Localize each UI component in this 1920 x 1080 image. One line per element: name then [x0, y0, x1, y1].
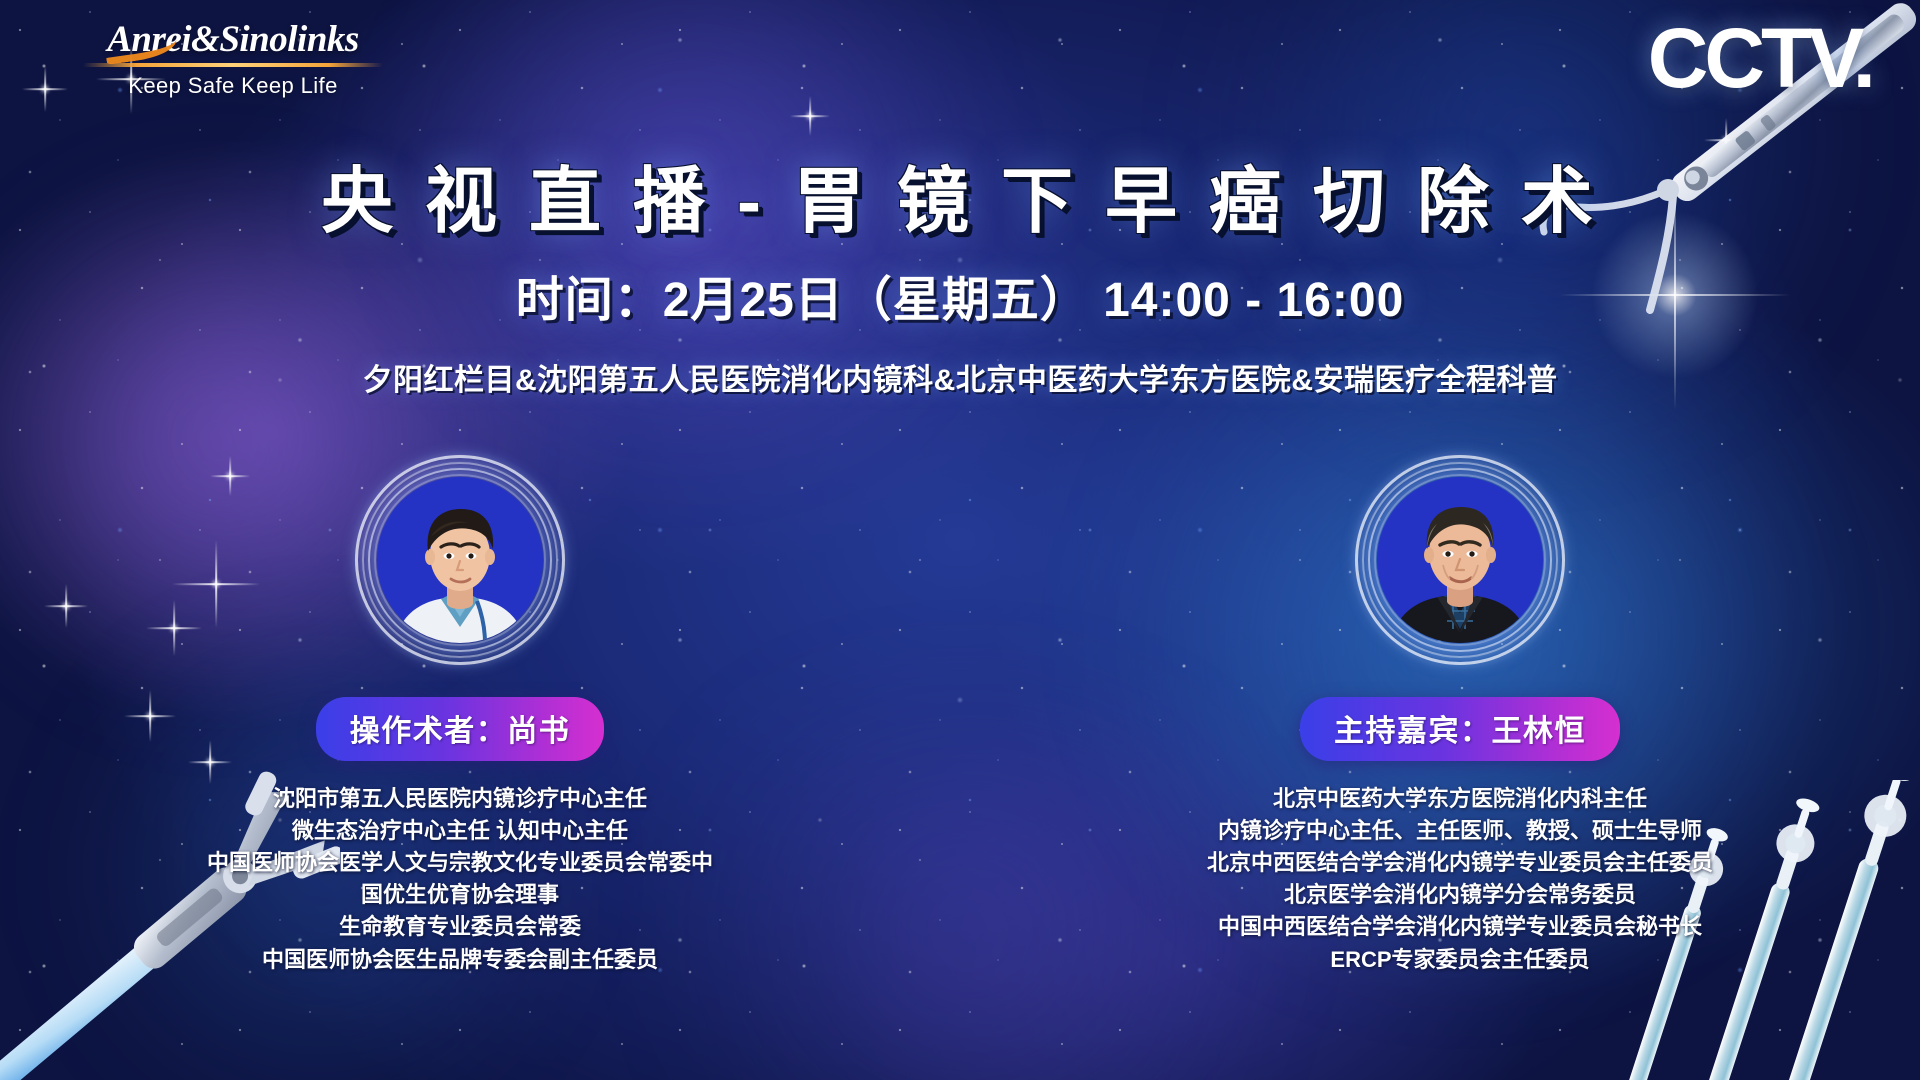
- credential-item: 中国医师协会医生品牌专委会副主任委员: [207, 944, 713, 976]
- presenters-section: 操作术者：尚书 沈阳市第五人民医院内镜诊疗中心主任 微生态治疗中心主任 认知中心…: [0, 455, 1920, 976]
- credential-item: 沈阳市第五人民医院内镜诊疗中心主任: [207, 783, 713, 815]
- brand-logo: Anrei&Sinolinks Keep Safe Keep Life: [78, 18, 388, 99]
- credential-item: 中国中西医结合学会消化内镜学专业委员会秘书长: [1207, 911, 1713, 943]
- presenter-card: 主持嘉宾：王林恒 北京中医药大学东方医院消化内科主任 内镜诊疗中心主任、主任医师…: [1180, 455, 1740, 976]
- credential-item: 国优生优育协会理事: [207, 879, 713, 911]
- broadcast-datetime: 时间：2月25日（星期五） 14:00 - 16:00: [0, 260, 1920, 330]
- credential-item: 生命教育专业委员会常委: [207, 911, 713, 943]
- avatar: [355, 455, 565, 665]
- brand-tagline: Keep Safe Keep Life: [78, 73, 388, 99]
- star-sparkle: [790, 96, 830, 136]
- credential-item: ERCP专家委员会主任委员: [1207, 944, 1713, 976]
- credential-item: 北京医学会消化内镜学分会常务委员: [1207, 879, 1713, 911]
- presenter-card: 操作术者：尚书 沈阳市第五人民医院内镜诊疗中心主任 微生态治疗中心主任 认知中心…: [180, 455, 740, 976]
- presenter-credentials: 沈阳市第五人民医院内镜诊疗中心主任 微生态治疗中心主任 认知中心主任 中国医师协…: [207, 783, 713, 976]
- credential-item: 北京中医药大学东方医院消化内科主任: [1207, 783, 1713, 815]
- star-sparkle: [22, 66, 68, 112]
- credential-item: 微生态治疗中心主任 认知中心主任: [207, 815, 713, 847]
- presenter-role-badge: 主持嘉宾：王林恒: [1300, 697, 1620, 761]
- brand-divider: [83, 63, 383, 67]
- presenter-photo: [377, 477, 543, 643]
- presenter-credentials: 北京中医药大学东方医院消化内科主任 内镜诊疗中心主任、主任医师、教授、硕士生导师…: [1207, 783, 1713, 976]
- poster-canvas: Anrei&Sinolinks Keep Safe Keep Life CCTV…: [0, 0, 1920, 1080]
- presenter-photo: [1377, 477, 1543, 643]
- page-title: 央 视 直 播 - 胃 镜 下 早 癌 切 除 术: [0, 142, 1920, 247]
- avatar: [1355, 455, 1565, 665]
- credential-item: 内镜诊疗中心主任、主任医师、教授、硕士生导师: [1207, 815, 1713, 847]
- partners-line: 夕阳红栏目&沈阳第五人民医院消化内镜科&北京中医药大学东方医院&安瑞医疗全程科普: [0, 355, 1920, 399]
- credential-item: 北京中西医结合学会消化内镜学专业委员会主任委员: [1207, 847, 1713, 879]
- credential-item: 中国医师协会医学人文与宗教文化专业委员会常委中: [207, 847, 713, 879]
- presenter-role-badge: 操作术者：尚书: [316, 697, 605, 761]
- cctv-logo: CCTV.: [1648, 16, 1872, 100]
